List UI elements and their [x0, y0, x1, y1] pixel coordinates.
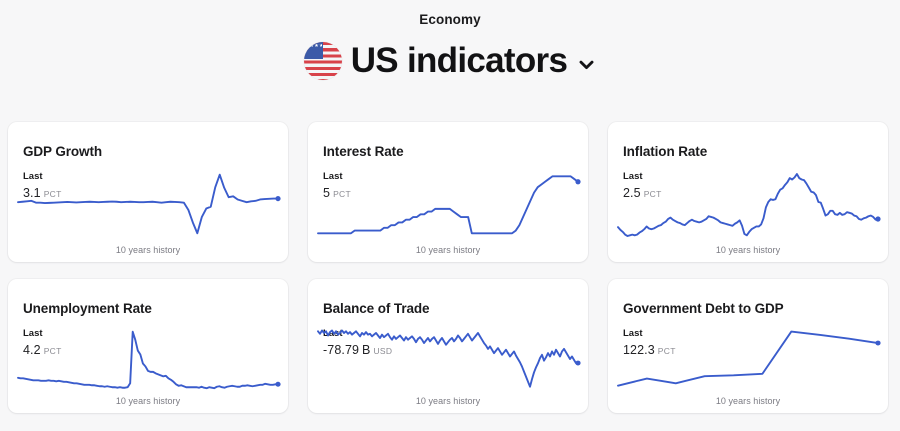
- sparkline-last-point: [875, 341, 880, 346]
- page-title-row[interactable]: ★★★★★★★★★★★★ US indicators: [0, 38, 900, 84]
- sparkline-last-point: [575, 179, 580, 184]
- sparkline-chart[interactable]: [618, 168, 878, 240]
- sparkline-caption: 10 years history: [308, 244, 588, 256]
- page-title: US indicators: [351, 41, 568, 81]
- sparkline-path: [618, 174, 878, 236]
- sparkline-caption: 10 years history: [308, 395, 588, 407]
- indicator-card[interactable]: GDP GrowthLast3.1PCT10 years history: [8, 122, 288, 262]
- sparkline-caption: 10 years history: [608, 244, 888, 256]
- sparkline-chart[interactable]: [318, 168, 578, 240]
- card-title: Unemployment Rate: [23, 301, 152, 317]
- sparkline-chart[interactable]: [318, 325, 578, 393]
- card-title: Government Debt to GDP: [623, 301, 784, 317]
- page-header: Economy ★★★★★★★★★★★★ US indicators: [0, 0, 900, 84]
- sparkline-caption: 10 years history: [608, 395, 888, 407]
- chevron-down-icon[interactable]: [577, 55, 596, 74]
- sparkline-path: [18, 175, 278, 234]
- indicator-card[interactable]: Inflation RateLast2.5PCT10 years history: [608, 122, 888, 262]
- indicator-cards-grid: GDP GrowthLast3.1PCT10 years historyInte…: [8, 122, 892, 413]
- flag-stars: ★★★★★★★★★★★★: [305, 44, 322, 57]
- sparkline-caption: 10 years history: [8, 244, 288, 256]
- indicator-card[interactable]: Government Debt to GDPLast122.3PCT10 yea…: [608, 279, 888, 413]
- card-title: Interest Rate: [323, 144, 403, 160]
- sparkline-path: [318, 176, 578, 233]
- page-eyebrow: Economy: [0, 11, 900, 29]
- sparkline-chart[interactable]: [18, 168, 278, 240]
- us-indicators-page: Economy ★★★★★★★★★★★★ US indicators GDP G…: [0, 0, 900, 431]
- sparkline-path: [318, 330, 578, 386]
- sparkline-last-point: [575, 361, 580, 366]
- sparkline-last-point: [875, 216, 880, 221]
- sparkline-last-point: [275, 196, 280, 201]
- sparkline-caption: 10 years history: [8, 395, 288, 407]
- sparkline-path: [618, 332, 878, 386]
- indicator-card[interactable]: Balance of TradeLast-78.79BUSD10 years h…: [308, 279, 588, 413]
- card-title: Inflation Rate: [623, 144, 707, 160]
- sparkline-last-point: [275, 382, 280, 387]
- us-flag-icon: ★★★★★★★★★★★★: [304, 42, 342, 80]
- indicator-card[interactable]: Interest RateLast5PCT10 years history: [308, 122, 588, 262]
- sparkline-chart[interactable]: [618, 325, 878, 393]
- sparkline-path: [18, 332, 278, 388]
- indicator-card[interactable]: Unemployment RateLast4.2PCT10 years hist…: [8, 279, 288, 413]
- sparkline-chart[interactable]: [18, 325, 278, 393]
- card-title: GDP Growth: [23, 144, 102, 160]
- card-title: Balance of Trade: [323, 301, 429, 317]
